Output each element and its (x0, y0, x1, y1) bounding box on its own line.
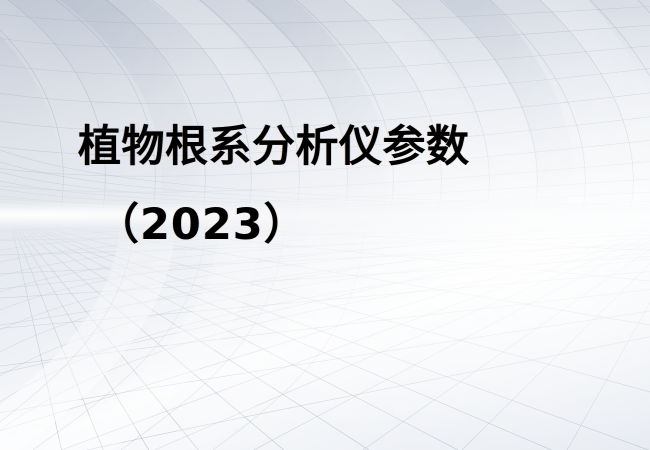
slide-subtitle-year: （2023） (0, 176, 650, 250)
title-text-block: 植物根系分析仪参数 （2023） (0, 118, 650, 250)
title-slide: 植物根系分析仪参数 （2023） (0, 0, 650, 450)
slide-title: 植物根系分析仪参数 (0, 118, 650, 176)
